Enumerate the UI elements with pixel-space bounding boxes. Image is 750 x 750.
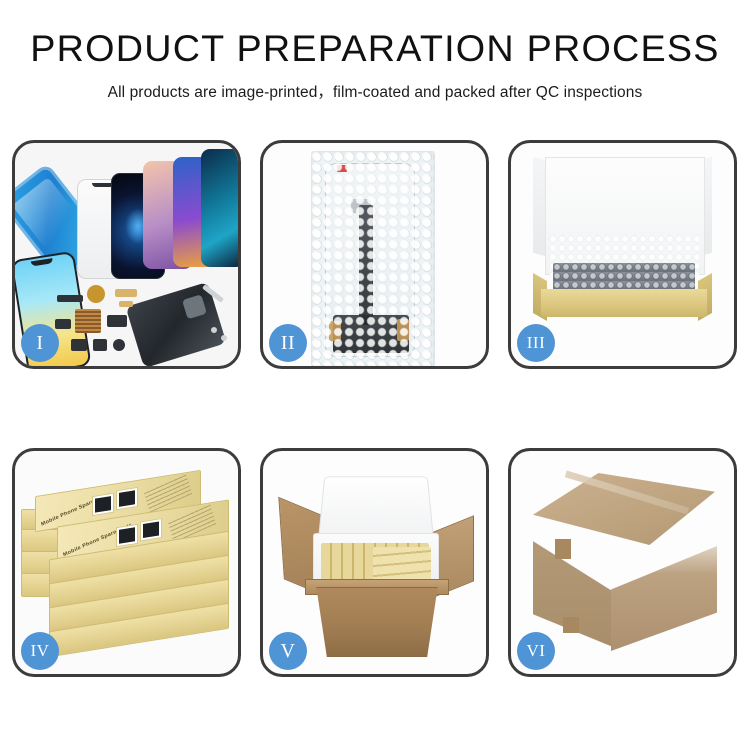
process-steps-grid: I II <box>12 140 738 677</box>
carton-right-face-icon <box>611 523 717 651</box>
flex-cable-small-icon <box>119 301 133 307</box>
step-badge-3: III <box>517 324 555 362</box>
lcd-flex-cable-icon <box>359 205 373 325</box>
step-badge-4: IV <box>21 632 59 670</box>
carton-front-panel-icon <box>311 587 443 657</box>
step-panel-2[interactable]: II <box>260 140 489 369</box>
step-badge-1: I <box>21 324 59 362</box>
speaker-part-icon <box>87 285 105 303</box>
vibrator-icon <box>93 339 107 351</box>
camera-module-icon <box>107 315 127 327</box>
flex-cable-icon <box>115 289 137 297</box>
step-badge-6: VI <box>517 632 555 670</box>
box-thumbnail-icon <box>116 487 138 510</box>
ic-chip-array-icon <box>75 309 101 333</box>
screw-icon <box>211 327 217 333</box>
gold-boxes-row-icon <box>373 547 431 583</box>
copper-tab-icon <box>329 321 341 341</box>
product-preparation-infographic: PRODUCT PREPARATION PROCESS All products… <box>0 0 750 750</box>
battery-connector-icon <box>71 339 87 351</box>
copper-tab-icon <box>397 319 409 341</box>
box-thumbnail-icon <box>92 493 114 516</box>
step-panel-5[interactable]: V <box>260 448 489 677</box>
step-badge-5: V <box>269 632 307 670</box>
step-badge-2: II <box>269 324 307 362</box>
carton-tape-patch-icon <box>555 539 571 559</box>
step-panel-1[interactable]: I <box>12 140 241 369</box>
step-panel-4[interactable]: Mobile Phone Spare Parts Mobile Phone Sp… <box>12 448 241 677</box>
header: PRODUCT PREPARATION PROCESS All products… <box>0 0 750 102</box>
screw-icon <box>221 335 227 341</box>
gold-box-front-icon <box>541 289 707 317</box>
carton-tape-patch-icon <box>563 617 579 633</box>
box-thumbnail-icon <box>140 518 162 541</box>
step-panel-3[interactable]: III <box>508 140 737 369</box>
page-subtitle: All products are image-printed，film-coat… <box>0 80 750 102</box>
small-component-icon <box>55 319 71 329</box>
box-thumbnail-icon <box>116 524 138 547</box>
box-stack: Mobile Phone Spare Parts Mobile Phone Sp… <box>21 467 235 663</box>
connector-strip-icon <box>57 295 83 302</box>
speaker-round-icon <box>113 339 125 351</box>
page-title: PRODUCT PREPARATION PROCESS <box>0 30 750 69</box>
phone-screen-teal-icon <box>201 149 238 267</box>
step-panel-6[interactable]: VI <box>508 448 737 677</box>
red-label-icon <box>337 165 347 172</box>
